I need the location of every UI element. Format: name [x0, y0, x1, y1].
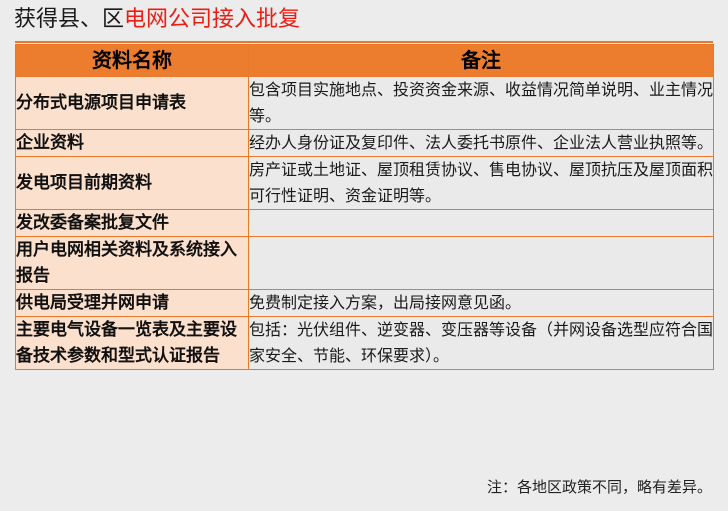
page-title-black-text: 获得县、区 — [14, 7, 124, 32]
cell-material-name: 发改委备案批复文件 — [16, 210, 249, 237]
title-underline-rule — [15, 41, 713, 43]
cell-material-note — [249, 237, 714, 290]
cell-material-note: 经办人身份证及复印件、法人委托书原件、企业法人营业执照等。 — [249, 130, 714, 157]
materials-table: 资料名称 备注 分布式电源项目申请表 包含项目实施地点、投资资金来源、收益情况简… — [15, 44, 714, 370]
cell-material-name: 供电局受理并网申请 — [16, 290, 249, 317]
cell-material-note: 房产证或土地证、屋顶租赁协议、售电协议、屋顶抗压及屋顶面积可行性证明、资金证明等… — [249, 157, 714, 210]
page-title: 获得县、区电网公司接入批复 — [14, 6, 300, 34]
cell-material-note — [249, 210, 714, 237]
column-header-note: 备注 — [249, 45, 714, 77]
page-title-red-text: 电网公司接入批复 — [124, 7, 300, 32]
column-header-name: 资料名称 — [16, 45, 249, 77]
table-row: 供电局受理并网申请 免费制定接入方案，出局接网意见函。 — [16, 290, 714, 317]
table-header: 资料名称 备注 — [16, 45, 714, 77]
materials-table-container: 资料名称 备注 分布式电源项目申请表 包含项目实施地点、投资资金来源、收益情况简… — [15, 44, 713, 370]
cell-material-note: 包括：光伏组件、逆变器、变压器等设备（并网设备选型应符合国家安全、节能、环保要求… — [249, 317, 714, 370]
table-header-row: 资料名称 备注 — [16, 45, 714, 77]
table-row: 企业资料 经办人身份证及复印件、法人委托书原件、企业法人营业执照等。 — [16, 130, 714, 157]
cell-material-name: 发电项目前期资料 — [16, 157, 249, 210]
cell-material-name: 用户电网相关资料及系统接入报告 — [16, 237, 249, 290]
table-row: 用户电网相关资料及系统接入报告 — [16, 237, 714, 290]
table-row: 主要电气设备一览表及主要设备技术参数和型式认证报告 包括：光伏组件、逆变器、变压… — [16, 317, 714, 370]
cell-material-name: 企业资料 — [16, 130, 249, 157]
table-row: 发电项目前期资料 房产证或土地证、屋顶租赁协议、售电协议、屋顶抗压及屋顶面积可行… — [16, 157, 714, 210]
footnote: 注：各地区政策不同，略有差异。 — [487, 476, 712, 498]
cell-material-note: 包含项目实施地点、投资资金来源、收益情况简单说明、业主情况等。 — [249, 77, 714, 130]
cell-material-name: 主要电气设备一览表及主要设备技术参数和型式认证报告 — [16, 317, 249, 370]
cell-material-note: 免费制定接入方案，出局接网意见函。 — [249, 290, 714, 317]
table-row: 发改委备案批复文件 — [16, 210, 714, 237]
table-body: 分布式电源项目申请表 包含项目实施地点、投资资金来源、收益情况简单说明、业主情况… — [16, 77, 714, 370]
cell-material-name: 分布式电源项目申请表 — [16, 77, 249, 130]
table-row: 分布式电源项目申请表 包含项目实施地点、投资资金来源、收益情况简单说明、业主情况… — [16, 77, 714, 130]
